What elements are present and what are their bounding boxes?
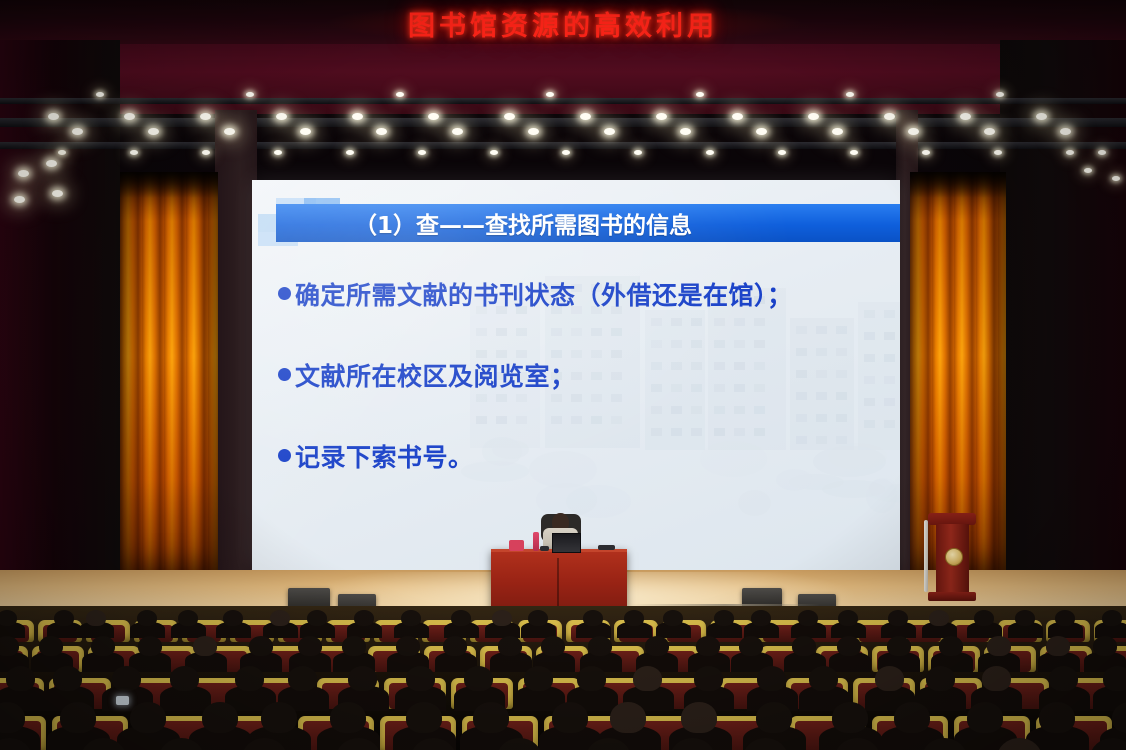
- university-seal-emblem: [945, 548, 963, 566]
- audience-head: [451, 610, 471, 626]
- side-wall-lamp: [18, 170, 29, 177]
- side-wall-lamp: [52, 190, 63, 197]
- audience-head: [354, 610, 374, 626]
- audience-head: [1103, 666, 1126, 691]
- stage-lamp: [832, 128, 843, 135]
- side-wall-lamp-right: [1098, 150, 1106, 155]
- audience-head: [39, 636, 63, 656]
- stage-lamp: [850, 150, 858, 155]
- audience-head: [926, 666, 955, 691]
- audience-head: [929, 610, 949, 626]
- audience-head: [406, 666, 435, 691]
- slide-bullet-list: 确定所需文献的书刊状态（外借还是在馆）；文献所在校区及阅览室；记录下索书号。: [278, 276, 888, 519]
- slide-bullet-text: 确定所需文献的书刊状态（外借还是在馆）；: [295, 276, 793, 312]
- audience-head: [235, 666, 264, 691]
- audience-head: [887, 636, 911, 656]
- audience-head: [610, 702, 646, 733]
- led-banner: 图书馆资源的高效利用: [0, 0, 1126, 46]
- stage-lamp: [808, 113, 819, 120]
- audience-phone-screen: [116, 696, 129, 705]
- stage-lamp: [58, 150, 66, 155]
- stage-lamp: [996, 92, 1004, 97]
- stage-lamp: [1036, 113, 1047, 120]
- audience-head: [974, 610, 994, 626]
- stage-lamp: [346, 150, 354, 155]
- audience-head: [681, 702, 717, 733]
- bullet-dot-icon: [278, 449, 291, 462]
- audience-head: [464, 666, 493, 691]
- audience-head: [396, 636, 420, 656]
- audience-head: [1102, 610, 1122, 626]
- stage-lamp: [546, 92, 554, 97]
- audience-head: [552, 702, 588, 733]
- stage-lamp: [680, 128, 691, 135]
- audience-head: [982, 666, 1011, 691]
- audience-head: [624, 610, 644, 626]
- audience-head: [541, 636, 565, 656]
- stage-lamp: [908, 128, 919, 135]
- stage-lamp: [656, 113, 667, 120]
- stage-lamp: [562, 150, 570, 155]
- audience-head: [1015, 610, 1035, 626]
- stage-lamp: [604, 128, 615, 135]
- projection-slide: （1）查——查找所需图书的信息 确定所需文献的书刊状态（外借还是在馆）；文献所在…: [252, 180, 900, 570]
- audience-head: [1046, 636, 1070, 656]
- stage-lamp: [224, 128, 235, 135]
- stage-lamp: [528, 128, 539, 135]
- stage-lamp: [274, 150, 282, 155]
- audience-head: [0, 636, 19, 656]
- led-banner-text: 图书馆资源的高效利用: [408, 4, 718, 43]
- stage-lamp: [778, 150, 786, 155]
- slide-bullet-text: 记录下索书号。: [295, 438, 474, 474]
- stage-lamp: [200, 113, 211, 120]
- audience-head: [223, 610, 243, 626]
- audience-head: [751, 610, 771, 626]
- audience-head: [1049, 666, 1078, 691]
- audience-head: [967, 702, 1003, 733]
- audience-head: [792, 636, 816, 656]
- audience-head: [837, 636, 861, 656]
- audience-head: [1093, 636, 1117, 656]
- stage-lamp: [756, 128, 767, 135]
- audience-head: [130, 702, 166, 733]
- audience-seating: [0, 606, 1126, 750]
- bullet-dot-icon: [278, 368, 291, 381]
- audience-head: [739, 636, 763, 656]
- audience-head: [756, 702, 792, 733]
- audience-head: [633, 666, 662, 691]
- stage-lamp: [276, 113, 287, 120]
- desk-red-item: [509, 540, 524, 551]
- audience-head: [342, 636, 366, 656]
- stage-lamp: [696, 92, 704, 97]
- side-wall-lamp-right: [1112, 176, 1120, 181]
- stage-lamp: [376, 128, 387, 135]
- stage-curtain-left: [120, 172, 218, 582]
- stage-lamp: [706, 150, 714, 155]
- audience-head: [888, 610, 908, 626]
- audience-head: [875, 666, 904, 691]
- stage-lamp: [130, 150, 138, 155]
- audience-head: [528, 610, 548, 626]
- light-truss-bar: [0, 118, 1126, 127]
- audience-head: [1039, 702, 1075, 733]
- audience-head: [757, 666, 786, 691]
- stage-lamp: [732, 113, 743, 120]
- slide-bullet: 确定所需文献的书刊状态（外借还是在馆）；: [278, 276, 888, 312]
- audience-head: [249, 636, 273, 656]
- stage-lamp: [984, 128, 995, 135]
- audience-head: [473, 702, 509, 733]
- stage-lamp: [300, 128, 311, 135]
- audience-head: [577, 666, 606, 691]
- stage-lamp: [148, 128, 159, 135]
- audience-head: [112, 666, 141, 691]
- audience-head: [939, 636, 963, 656]
- stage-lamp: [846, 92, 854, 97]
- audience-head: [524, 666, 553, 691]
- stage-lamp: [1066, 150, 1074, 155]
- audience-head: [86, 610, 106, 626]
- stage-lamp: [580, 113, 591, 120]
- audience-head: [832, 702, 868, 733]
- audience-head: [170, 666, 199, 691]
- audience-head: [261, 702, 297, 733]
- light-truss-bar: [0, 142, 1126, 149]
- stage-lamp: [48, 113, 59, 120]
- stage-lamp: [490, 150, 498, 155]
- stage-lamp: [418, 150, 426, 155]
- audience-head: [298, 636, 322, 656]
- audience-head: [54, 610, 74, 626]
- audience-head: [809, 666, 838, 691]
- audience-head: [307, 610, 327, 626]
- audience-head: [1055, 610, 1075, 626]
- side-wall-lamp: [46, 160, 57, 167]
- stage-lamp: [428, 113, 439, 120]
- stage-lamp: [922, 150, 930, 155]
- lectern-microphone-stand: [924, 520, 928, 592]
- audience-head: [894, 702, 930, 733]
- desk-object-2: [540, 546, 549, 551]
- audience-head: [714, 610, 734, 626]
- curtain-right-shadow: [910, 172, 1006, 198]
- slide-bullet: 文献所在校区及阅览室；: [278, 357, 888, 393]
- stage-lamp: [960, 113, 971, 120]
- audience-head: [348, 666, 377, 691]
- audience-head: [60, 702, 96, 733]
- slide-bullet-text: 文献所在校区及阅览室；: [295, 357, 576, 393]
- bullet-dot-icon: [278, 287, 291, 300]
- slide-bullet: 记录下索书号。: [278, 438, 888, 474]
- stage-lamp: [396, 92, 404, 97]
- audience-head: [443, 636, 467, 656]
- audience-head: [193, 636, 217, 656]
- stage-lamp: [246, 92, 254, 97]
- audience-head: [270, 610, 290, 626]
- audience-head: [137, 610, 157, 626]
- stage-lamp: [96, 92, 104, 97]
- audience-head: [288, 666, 317, 691]
- audience-head: [406, 702, 442, 733]
- audience-head: [694, 666, 723, 691]
- curtain-left-shadow: [120, 172, 218, 198]
- stage-lamp: [352, 113, 363, 120]
- audience-head: [0, 610, 17, 626]
- audience-head: [401, 610, 421, 626]
- side-wall-lamp: [14, 196, 25, 203]
- audience-head: [138, 636, 162, 656]
- audience-head: [583, 610, 603, 626]
- audience-head: [202, 702, 238, 733]
- audience-head: [696, 636, 720, 656]
- water-bottle: [533, 532, 539, 551]
- stage-lamp: [72, 128, 83, 135]
- stage-lamp: [452, 128, 463, 135]
- audience-head: [330, 702, 366, 733]
- left-screen-frame: [215, 110, 257, 580]
- audience-head: [178, 610, 198, 626]
- presenter-laptop: [552, 533, 581, 553]
- stage-lamp: [124, 113, 135, 120]
- stage-lamp: [504, 113, 515, 120]
- desk-object: [598, 545, 615, 550]
- slide-title-bar: （1）查——查找所需图书的信息: [276, 204, 900, 242]
- audience-head: [588, 636, 612, 656]
- side-wall-lamp-right: [1084, 168, 1092, 173]
- stage-lamp: [1060, 128, 1071, 135]
- light-truss-bar: [0, 98, 1126, 104]
- audience-head: [838, 610, 858, 626]
- audience-head: [492, 610, 512, 626]
- stage-lamp: [634, 150, 642, 155]
- presenter-desk: [491, 549, 627, 614]
- lectern-base: [928, 592, 976, 601]
- audience-head: [53, 666, 82, 691]
- audience-head: [663, 610, 683, 626]
- audience-head: [498, 636, 522, 656]
- stage-lamp: [884, 113, 895, 120]
- audience-head: [91, 636, 115, 656]
- auditorium-photo: 图书馆资源的高效利用 （1）查——查找所需图书的信息 确定所需文献的书刊状态（外…: [0, 0, 1126, 750]
- audience-head: [798, 610, 818, 626]
- slide-title-text: （1）查——查找所需图书的信息: [354, 206, 692, 240]
- audience-head: [6, 666, 35, 691]
- stage-lamp: [202, 150, 210, 155]
- stage-lamp: [994, 150, 1002, 155]
- audience-head: [987, 636, 1011, 656]
- audience-head: [645, 636, 669, 656]
